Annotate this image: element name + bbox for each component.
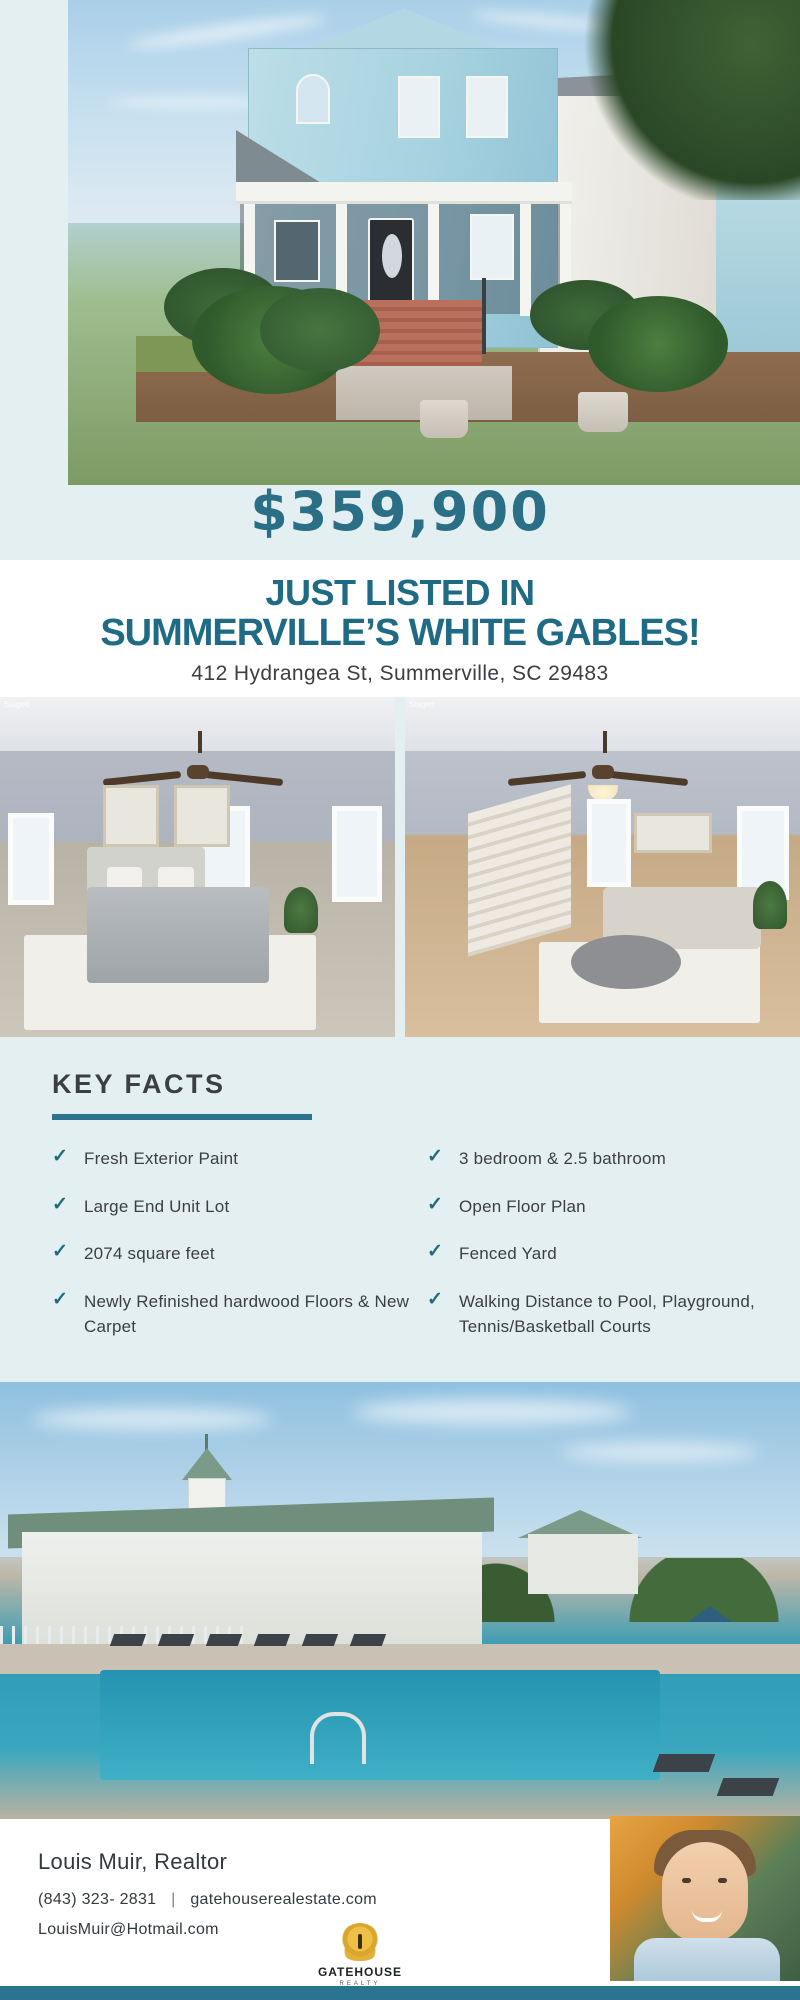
lounge-chair [158, 1634, 194, 1646]
hero-section: $359,900 [0, 0, 800, 560]
agent-headshot [610, 1816, 800, 1981]
door-glass [382, 234, 402, 278]
planter-pot [420, 400, 468, 438]
bedroom-photo: Staged [0, 697, 395, 1037]
front-door-window [587, 799, 631, 887]
sago-palm [588, 296, 728, 392]
footer-section: Louis Muir, Realtor (843) 323- 2831 | ga… [0, 1819, 800, 2000]
upper-window [398, 76, 440, 138]
key-fact-text: Newly Refinished hardwood Floors & New C… [84, 1289, 417, 1340]
key-fact-text: 3 bedroom & 2.5 bathroom [459, 1146, 666, 1172]
headline: JUST LISTED IN SUMMERVILLE’S WHITE GABLE… [0, 574, 800, 654]
headline-line-1: JUST LISTED IN [0, 574, 800, 613]
window [332, 806, 382, 902]
wall-art [174, 785, 230, 847]
fan-blade [205, 771, 283, 786]
key-fact-item: ✓ Fresh Exterior Paint [52, 1146, 417, 1172]
property-address: 412 Hydrangea St, Summerville, SC 29483 [0, 662, 800, 686]
key-facts-section: KEY FACTS ✓ Fresh Exterior Paint ✓ Large… [0, 1037, 800, 1382]
stair-railing [482, 278, 486, 354]
check-icon: ✓ [52, 1149, 70, 1167]
key-fact-item: ✓ Large End Unit Lot [52, 1194, 417, 1220]
check-icon: ✓ [427, 1149, 445, 1167]
wall-art [634, 813, 712, 853]
ceiling-fan-hub [592, 765, 614, 779]
key-fact-text: Fenced Yard [459, 1241, 557, 1267]
ceiling-fan-rod [198, 731, 202, 753]
shirt [634, 1938, 780, 1981]
crest-icon [340, 1923, 380, 1961]
key-fact-item: ✓ Newly Refinished hardwood Floors & New… [52, 1289, 417, 1340]
porch-window [470, 214, 514, 280]
key-fact-item: ✓ 2074 square feet [52, 1241, 417, 1267]
community-pool-photo [0, 1382, 800, 1819]
key-facts-left-column: ✓ Fresh Exterior Paint ✓ Large End Unit … [52, 1146, 417, 1362]
bottom-accent-bar [0, 1986, 800, 2000]
wall-art [103, 785, 159, 847]
key-facts-right-column: ✓ 3 bedroom & 2.5 bathroom ✓ Open Floor … [417, 1146, 782, 1362]
check-icon: ✓ [427, 1197, 445, 1215]
lounge-chair [254, 1634, 290, 1646]
key-facts-title: KEY FACTS [52, 1069, 782, 1100]
key-facts-rule [52, 1114, 312, 1120]
living-room-photo: Staged [405, 697, 800, 1037]
lounge-chair [110, 1634, 146, 1646]
lounge-chair [717, 1778, 780, 1796]
lounge-chair [653, 1754, 716, 1772]
check-icon: ✓ [52, 1197, 70, 1215]
headline-section: JUST LISTED IN SUMMERVILLE’S WHITE GABLE… [0, 560, 800, 697]
gazebo [528, 1534, 638, 1594]
pool-handrail [310, 1712, 366, 1764]
lounge-chair [302, 1634, 338, 1646]
check-icon: ✓ [52, 1292, 70, 1310]
roof-slope [236, 130, 326, 186]
check-icon: ✓ [427, 1292, 445, 1310]
staircase [468, 784, 571, 956]
attic-window [296, 74, 330, 124]
face [662, 1842, 748, 1942]
interior-photo-row: Staged Staged [0, 697, 800, 1037]
listing-price: $359,900 [0, 480, 800, 543]
shrub [260, 288, 380, 372]
key-fact-item: ✓ 3 bedroom & 2.5 bathroom [427, 1146, 782, 1172]
website-link[interactable]: gatehouserealestate.com [190, 1891, 377, 1908]
bed [87, 887, 269, 982]
key-fact-text: Open Floor Plan [459, 1194, 586, 1220]
contact-line-1: (843) 323- 2831 | gatehouserealestate.co… [38, 1891, 377, 1909]
separator: | [171, 1891, 175, 1908]
fan-blade [610, 771, 688, 786]
lounge-chair [206, 1634, 242, 1646]
headline-line-2: SUMMERVILLE’S WHITE GABLES! [0, 613, 800, 654]
phone-number[interactable]: (843) 323- 2831 [38, 1891, 156, 1908]
fan-blade [103, 771, 181, 786]
eye [682, 1878, 691, 1883]
key-fact-text: Walking Distance to Pool, Playground, Te… [459, 1289, 782, 1340]
umbrella [688, 1606, 732, 1622]
photo-tag-left: Staged [4, 700, 29, 709]
eye [718, 1878, 727, 1883]
check-icon: ✓ [427, 1244, 445, 1262]
lounge-chair [350, 1634, 386, 1646]
porch-window [274, 220, 320, 282]
logo-name: GATEHOUSE [300, 1965, 420, 1979]
front-exterior-photo [68, 0, 800, 485]
ceiling-fan-hub [187, 765, 209, 779]
planter-pot [578, 392, 628, 432]
potted-plant [284, 887, 318, 933]
tree-canopy [580, 0, 800, 200]
photo-tag-right: Staged [409, 700, 434, 709]
key-facts-columns: ✓ Fresh Exterior Paint ✓ Large End Unit … [52, 1146, 782, 1362]
key-fact-item: ✓ Walking Distance to Pool, Playground, … [427, 1289, 782, 1340]
key-fact-text: 2074 square feet [84, 1241, 215, 1267]
key-fact-item: ✓ Fenced Yard [427, 1241, 782, 1267]
key-fact-text: Large End Unit Lot [84, 1194, 229, 1220]
upper-window [466, 76, 508, 138]
fan-blade [508, 771, 586, 786]
porch-roof [236, 182, 572, 204]
key-fact-item: ✓ Open Floor Plan [427, 1194, 782, 1220]
pool-water [100, 1670, 660, 1780]
ceiling-fan-rod [603, 731, 607, 753]
cupola-roof [182, 1448, 232, 1480]
key-fact-text: Fresh Exterior Paint [84, 1146, 238, 1172]
flyer-page: $359,900 JUST LISTED IN SUMMERVILLE’S WH… [0, 0, 800, 2000]
check-icon: ✓ [52, 1244, 70, 1262]
front-door [368, 218, 414, 312]
window [8, 813, 54, 905]
agent-name: Louis Muir, Realtor [38, 1849, 377, 1875]
porch-column [520, 204, 531, 316]
potted-plant [753, 881, 787, 929]
brokerage-logo: GATEHOUSE REALTY [300, 1923, 420, 1987]
